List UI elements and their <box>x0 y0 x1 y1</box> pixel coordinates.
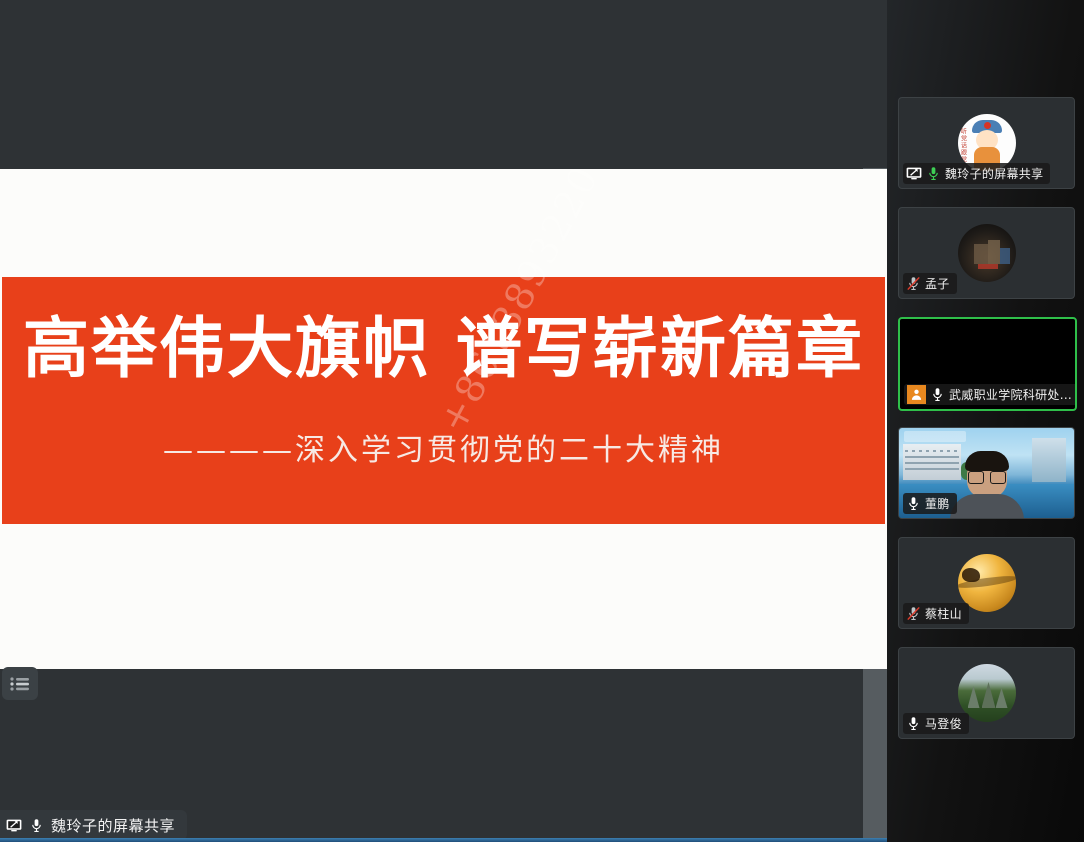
participant-tile[interactable]: 武威职业学院科研处... <box>898 317 1077 411</box>
participant-name: 武威职业学院科研处... <box>949 386 1072 403</box>
share-status-bar[interactable]: 魏玲子的屏幕共享 <box>0 810 187 840</box>
participant-label: 董鹏 <box>903 493 957 514</box>
microphone-icon <box>906 496 921 511</box>
stage-right-edge-top <box>863 0 887 168</box>
participant-label: 武威职业学院科研处... <box>904 384 1077 405</box>
participant-tile[interactable]: 马登俊 <box>898 647 1075 739</box>
person-icon <box>907 385 926 404</box>
microphone-muted-icon <box>906 606 921 621</box>
presentation-slide: 高举伟大旗帜 谱写崭新篇章 ————深入学习贯彻党的二十大精神 +8613893… <box>0 169 887 669</box>
participant-name: 董鹏 <box>925 495 950 512</box>
participant-name: 蔡柱山 <box>925 605 962 622</box>
participant-label: 蔡柱山 <box>903 603 969 624</box>
night-scene-avatar <box>958 224 1016 282</box>
shared-screen-stage[interactable]: 高举伟大旗帜 谱写崭新篇章 ————深入学习贯彻党的二十大精神 +8613893… <box>0 0 887 842</box>
participant-tile[interactable]: 董鹏 <box>898 427 1075 519</box>
participant-name: 孟子 <box>925 275 950 292</box>
microphone-icon <box>930 387 945 402</box>
participant-name: 马登俊 <box>925 715 962 732</box>
screen-share-icon <box>6 819 22 832</box>
conference-window: 高举伟大旗帜 谱写崭新篇章 ————深入学习贯彻党的二十大精神 +8613893… <box>0 0 1084 842</box>
microphone-muted-icon <box>906 276 921 291</box>
participant-tile[interactable]: 听党话跟党走 魏玲子的屏 <box>898 97 1075 189</box>
bulleted-list-icon[interactable] <box>2 667 38 700</box>
participant-label: 魏玲子的屏幕共享 <box>903 163 1050 184</box>
share-status-label: 魏玲子的屏幕共享 <box>51 815 175 836</box>
participant-label: 孟子 <box>903 273 957 294</box>
slide-title: 高举伟大旗帜 谱写崭新篇章 <box>2 313 885 386</box>
participant-tile[interactable]: 蔡柱山 <box>898 537 1075 629</box>
taskbar-sliver <box>0 838 887 842</box>
microphone-icon <box>926 166 941 181</box>
screen-share-icon <box>906 167 922 180</box>
participant-filmstrip[interactable]: 听党话跟党走 魏玲子的屏 <box>887 0 1084 842</box>
participant-label: 马登俊 <box>903 713 969 734</box>
slide-banner: 高举伟大旗帜 谱写崭新篇章 ————深入学习贯彻党的二十大精神 <box>2 277 885 524</box>
participant-name: 魏玲子的屏幕共享 <box>945 165 1043 182</box>
slide-subtitle: ————深入学习贯彻党的二十大精神 <box>2 425 885 469</box>
participant-tile[interactable]: 孟子 <box>898 207 1075 299</box>
microphone-icon <box>29 818 44 833</box>
microphone-icon <box>906 716 921 731</box>
